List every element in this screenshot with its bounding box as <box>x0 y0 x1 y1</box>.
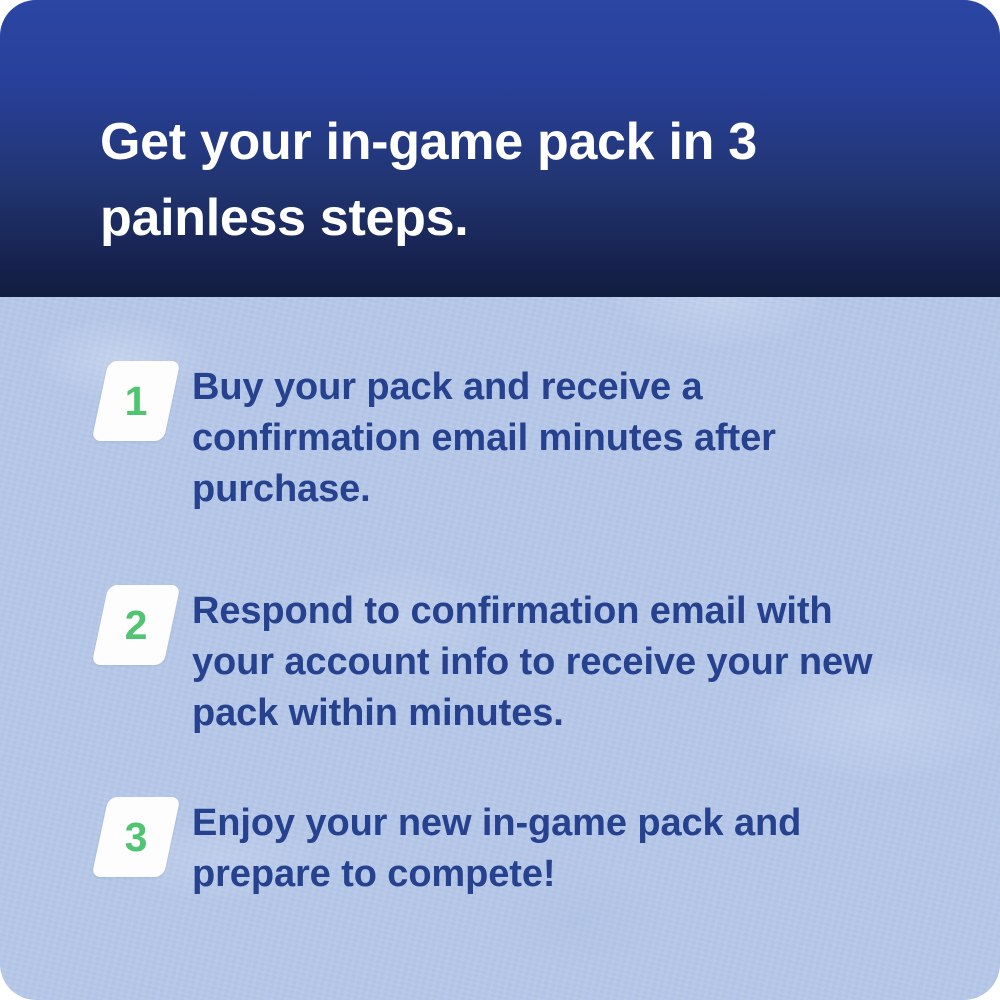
promo-card: Get your in-game pack in 3 painless step… <box>0 0 1000 1000</box>
step-number: 1 <box>100 361 172 441</box>
list-item: 2 Respond to confirmation email with you… <box>100 585 900 739</box>
page-title: Get your in-game pack in 3 painless step… <box>100 104 890 256</box>
step-number: 3 <box>100 797 172 877</box>
step-description: Buy your pack and receive a confirmation… <box>192 361 900 515</box>
step-number-badge: 2 <box>100 585 176 665</box>
step-number-badge: 3 <box>100 797 176 877</box>
card-header: Get your in-game pack in 3 painless step… <box>0 0 1000 297</box>
step-number: 2 <box>100 585 172 665</box>
list-item: 3 Enjoy your new in-game pack and prepar… <box>100 797 900 900</box>
step-description: Respond to confirmation email with your … <box>192 585 900 739</box>
step-description: Enjoy your new in-game pack and prepare … <box>192 797 900 900</box>
list-item: 1 Buy your pack and receive a confirmati… <box>100 361 900 515</box>
step-number-badge: 1 <box>100 361 176 441</box>
